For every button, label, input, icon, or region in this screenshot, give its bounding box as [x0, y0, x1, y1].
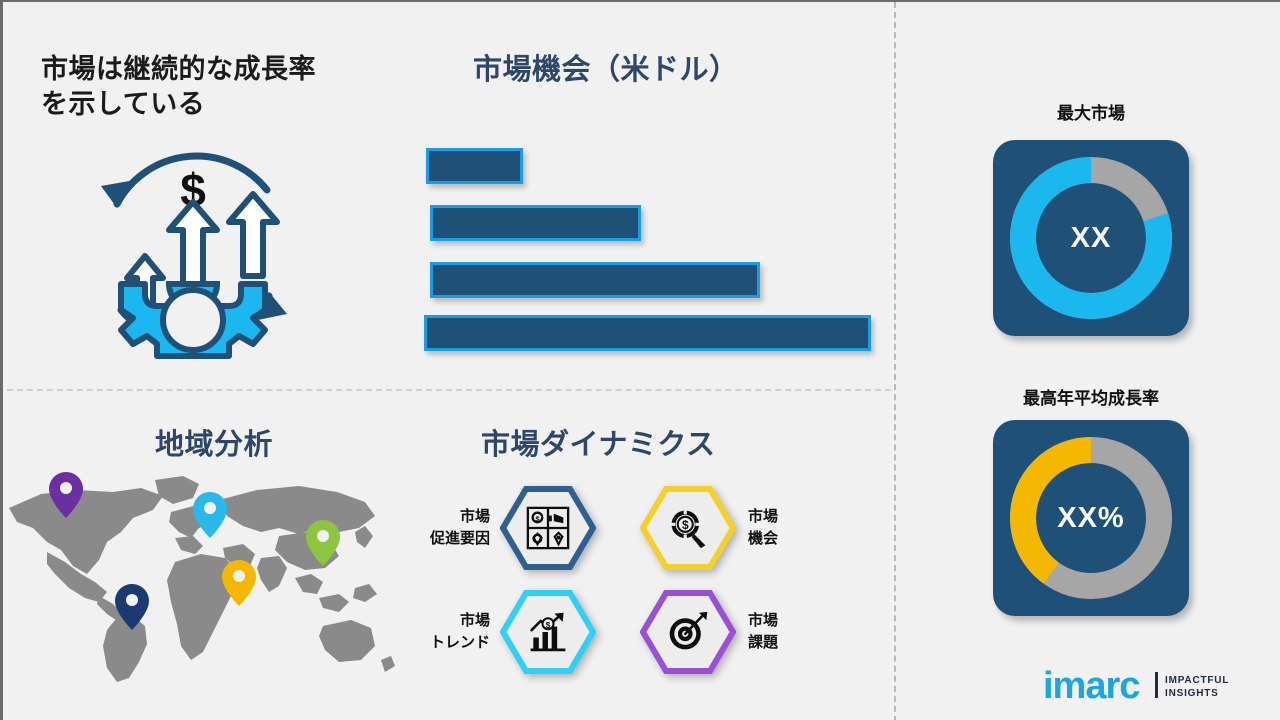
dynamics-item-trends-label: 市場 トレンド [408, 610, 490, 654]
logo-wordmark: imarc [1043, 665, 1140, 707]
logo-tagline-line2: INSIGHTS [1165, 688, 1219, 699]
pin-east-asia [306, 520, 340, 566]
pin-south-america [115, 584, 149, 630]
opportunity-bar-chart [424, 148, 874, 348]
hexagon-trends[interactable]: $ [500, 590, 596, 674]
growth-bar-chart-icon: $ [500, 590, 596, 674]
bar-3 [430, 262, 760, 298]
slide-canvas: 市場は継続的な成長率 を示している $ [0, 0, 1280, 720]
dynamics-item-challenges[interactable]: 市場 課題 [640, 590, 830, 674]
largest-market-value: XX [993, 140, 1189, 336]
imarc-logo: imarc IMPACTFUL INSIGHTS [1043, 664, 1243, 708]
bar-2 [430, 205, 641, 241]
dynamics-item-opportunity-label: 市場 機会 [748, 506, 830, 550]
hexagon-opportunity[interactable]: $ [640, 486, 736, 570]
pin-middle-east [222, 560, 256, 606]
highest-cagr-value: XX% [993, 420, 1189, 616]
largest-market-card: XX [993, 140, 1189, 336]
svg-text:$: $ [535, 514, 540, 523]
pin-europe [193, 492, 227, 538]
logo-tagline-line1: IMPACTFUL [1165, 675, 1229, 686]
dynamics-item-trends[interactable]: 市場 トレンド [408, 590, 596, 674]
puzzle-pieces-icon: $ [500, 486, 596, 570]
vertical-divider [894, 2, 896, 720]
svg-text:$: $ [546, 621, 551, 630]
dynamics-grid: 市場 促進要因 $ [408, 486, 838, 674]
pin-north-america [49, 472, 83, 518]
growth-gear-cycle-icon: $ [77, 134, 309, 366]
largest-market-title: 最大市場 [991, 99, 1191, 124]
magnifier-dollar-icon: $ [640, 486, 736, 570]
hexagon-challenges[interactable] [640, 590, 736, 674]
dynamics-item-challenges-label: 市場 課題 [748, 610, 830, 654]
dynamics-panel-title: 市場ダイナミクス [481, 427, 716, 464]
regional-panel-title: 地域分析 [155, 427, 273, 464]
bar-4 [424, 315, 871, 351]
dynamics-item-drivers[interactable]: 市場 促進要因 $ [408, 486, 596, 570]
horizontal-divider [7, 389, 891, 391]
dynamics-item-opportunity[interactable]: $ 市場 機会 [640, 486, 830, 570]
highest-cagr-card: XX% [993, 420, 1189, 616]
target-dart-icon [640, 590, 736, 674]
opportunity-panel-title: 市場機会（米ドル） [473, 52, 739, 89]
hexagon-drivers[interactable]: $ [500, 486, 596, 570]
dynamics-item-drivers-label: 市場 促進要因 [408, 506, 490, 550]
highest-cagr-title: 最高年平均成長率 [981, 384, 1201, 409]
svg-text:$: $ [682, 518, 689, 532]
bar-1 [426, 148, 523, 184]
growth-panel-title: 市場は継続的な成長率 を示している [41, 52, 391, 121]
